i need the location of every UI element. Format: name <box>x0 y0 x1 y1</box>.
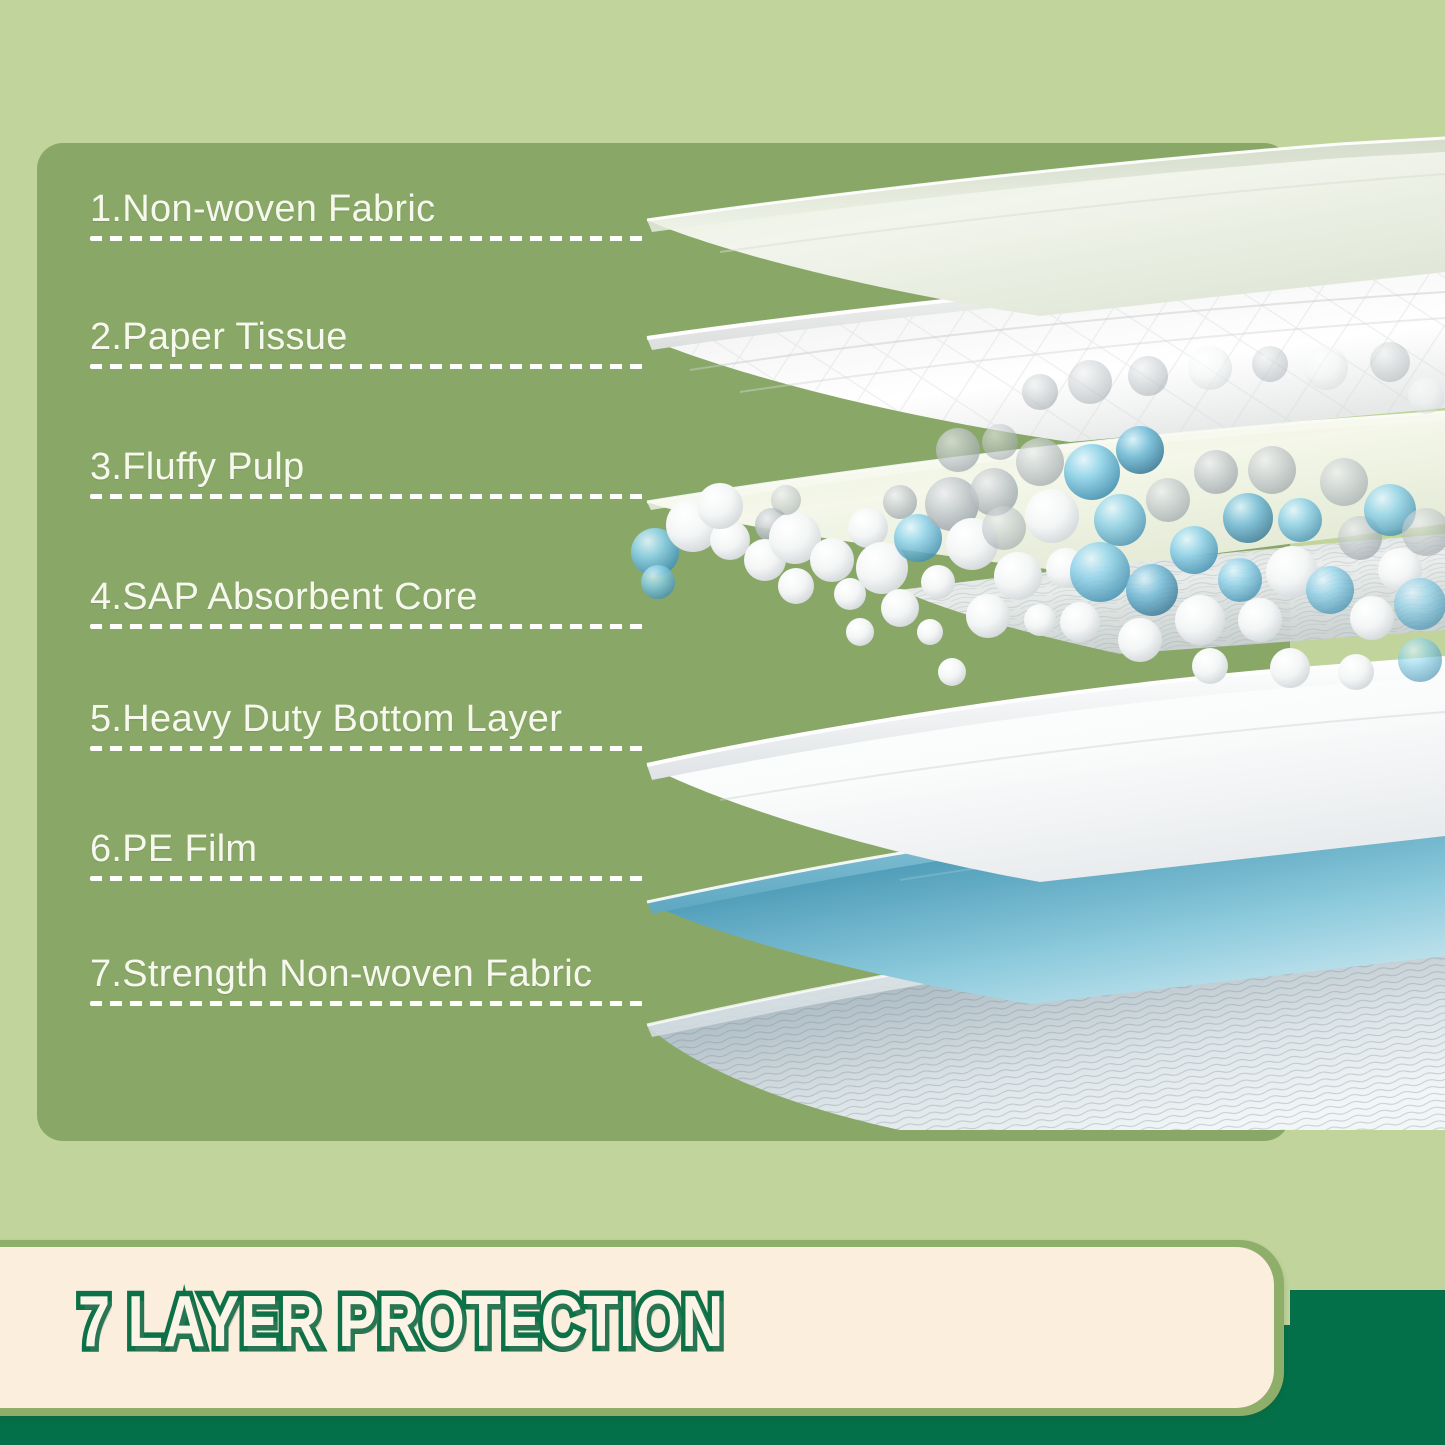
layer-2-label: 2.Paper Tissue <box>90 316 348 359</box>
layer-7-label: 7.Strength Non-woven Fabric <box>90 953 592 996</box>
layer-1-leader-line <box>90 236 643 241</box>
layer-2-leader-line <box>90 364 643 369</box>
layer-label-row-5: 5.Heavy Duty Bottom Layer <box>90 685 650 763</box>
layer-6-label: 6.PE Film <box>90 828 257 871</box>
layer-label-row-3: 3.Fluffy Pulp <box>90 433 650 511</box>
banner-title: 7 LAYER PROTECTION <box>78 1286 724 1358</box>
layer-label-row-1: 1.Non-woven Fabric <box>90 175 650 253</box>
layer-1-label: 1.Non-woven Fabric <box>90 188 435 231</box>
layer-label-row-2: 2.Paper Tissue <box>90 303 650 381</box>
layer-label-row-7: 7.Strength Non-woven Fabric <box>90 940 650 1018</box>
layer-label-row-6: 6.PE Film <box>90 815 650 893</box>
layer-5-label: 5.Heavy Duty Bottom Layer <box>90 698 562 741</box>
layer-4-leader-line <box>90 624 643 629</box>
footer-dark-green-right-fill <box>1290 1290 1445 1445</box>
layer-3-label: 3.Fluffy Pulp <box>90 446 304 489</box>
layer-label-row-4: 4.SAP Absorbent Core <box>90 563 650 641</box>
layer-6-leader-line <box>90 876 643 881</box>
infographic-stage: 1.Non-woven Fabric 2.Paper Tissue 3.Fluf… <box>0 0 1445 1445</box>
layer-3-leader-line <box>90 494 643 499</box>
layer-5-leader-line <box>90 746 643 751</box>
layer-4-label: 4.SAP Absorbent Core <box>90 576 478 619</box>
layer-7-leader-line <box>90 1001 643 1006</box>
